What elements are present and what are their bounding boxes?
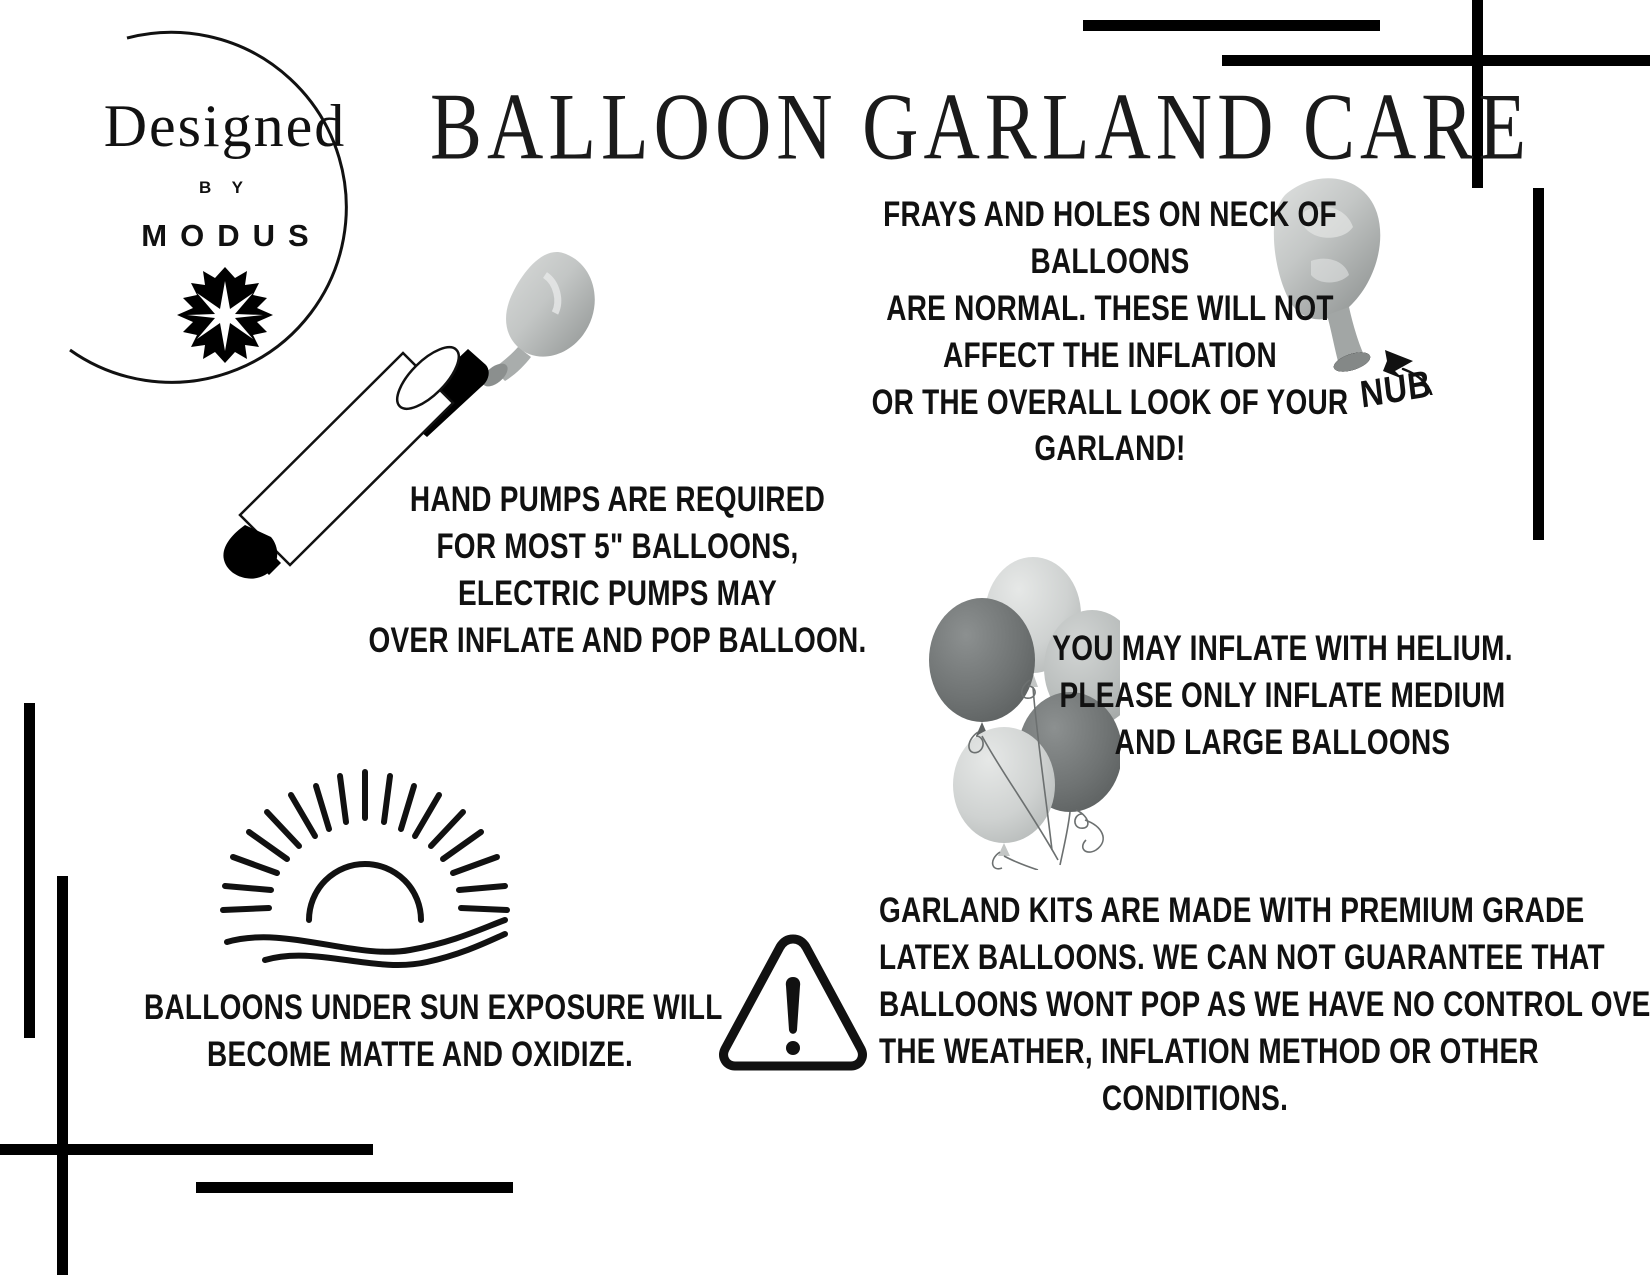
pump-balloon bbox=[478, 252, 594, 391]
pump-line-2: FOR MOST 5" BALLOONS, bbox=[348, 524, 888, 571]
frays-line-6: GARLAND! bbox=[830, 426, 1390, 473]
deco-rule-right-vertical-2 bbox=[1533, 188, 1544, 540]
sun-line-1: BALLOONS UNDER SUN EXPOSURE WILL bbox=[144, 985, 696, 1032]
frays-line-4: AFFECT THE INFLATION bbox=[830, 333, 1390, 380]
helium-line-3: AND LARGE BALLOONS bbox=[1049, 720, 1517, 767]
pump-line-1: HAND PUMPS ARE REQUIRED bbox=[348, 477, 888, 524]
warning-line-4: THE WEATHER, INFLATION METHOD OR OTHER bbox=[879, 1029, 1511, 1076]
logo-designed-text: Designed bbox=[60, 96, 390, 156]
frays-and-holes-text: FRAYS AND HOLES ON NECK OF BALLOONS ARE … bbox=[830, 192, 1390, 473]
warning-line-3: BALLOONS WONT POP AS WE HAVE NO CONTROL … bbox=[879, 982, 1511, 1029]
frays-line-5: OR THE OVERALL LOOK OF YOUR bbox=[830, 380, 1390, 427]
balloon-left-dark bbox=[929, 598, 1035, 736]
deco-rule-top-horizontal-2 bbox=[1222, 55, 1650, 66]
helium-text: YOU MAY INFLATE WITH HELIUM. PLEASE ONLY… bbox=[1049, 626, 1517, 767]
frays-line-3: ARE NORMAL. THESE WILL NOT bbox=[830, 286, 1390, 333]
hand-pump-text: HAND PUMPS ARE REQUIRED FOR MOST 5" BALL… bbox=[348, 477, 888, 665]
helium-line-1: YOU MAY INFLATE WITH HELIUM. bbox=[1049, 626, 1517, 673]
page-title: BALLOON GARLAND CARE bbox=[430, 72, 1290, 182]
pump-line-4: OVER INFLATE AND POP BALLOON. bbox=[348, 618, 888, 665]
water-wave-1 bbox=[227, 920, 505, 952]
warning-disclaimer-text: GARLAND KITS ARE MADE WITH PREMIUM GRADE… bbox=[879, 888, 1511, 1122]
balloon-garland-care-poster: Designed B Y MODUS BALLOON GARLAND CARE bbox=[0, 0, 1650, 1275]
warning-line-1: GARLAND KITS ARE MADE WITH PREMIUM GRADE bbox=[879, 888, 1511, 935]
deco-rule-top-horizontal-1 bbox=[1083, 20, 1380, 31]
sun-exposure-text: BALLOONS UNDER SUN EXPOSURE WILL BECOME … bbox=[144, 985, 696, 1079]
deco-rule-left-vertical-1 bbox=[24, 703, 35, 1038]
sun-line-2: BECOME MATTE AND OXIDIZE. bbox=[144, 1032, 696, 1079]
logo-by-text: B Y bbox=[60, 178, 390, 198]
deco-rule-bottom-horizontal-1 bbox=[0, 1144, 373, 1155]
warning-line-5: CONDITIONS. bbox=[879, 1076, 1511, 1123]
sun-icon bbox=[205, 760, 525, 985]
frays-line-1: FRAYS AND HOLES ON NECK OF bbox=[830, 192, 1390, 239]
pump-line-3: ELECTRIC PUMPS MAY bbox=[348, 571, 888, 618]
deco-rule-left-vertical-2 bbox=[57, 876, 68, 1275]
deco-rule-bottom-horizontal-2 bbox=[196, 1182, 513, 1193]
helium-line-2: PLEASE ONLY INFLATE MEDIUM bbox=[1049, 673, 1517, 720]
frays-line-2: BALLOONS bbox=[830, 239, 1390, 286]
warning-triangle-icon bbox=[713, 925, 873, 1085]
warning-line-2: LATEX BALLOONS. WE CAN NOT GUARANTEE THA… bbox=[879, 935, 1511, 982]
sun-disc-arc bbox=[309, 864, 421, 920]
sun-rays bbox=[223, 772, 507, 910]
